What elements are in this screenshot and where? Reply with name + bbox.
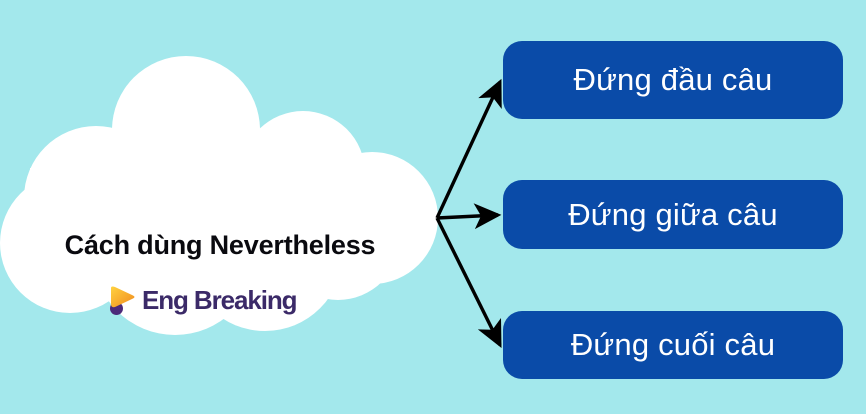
arrow-to-node-2 [437, 215, 498, 218]
diagram-canvas: Cách dùng Nevertheless Eng Breaking [0, 0, 866, 414]
node-label: Đứng cuối câu [571, 327, 775, 363]
node-dung-giua-cau[interactable]: Đứng giữa câu [503, 180, 843, 249]
arrow-to-node-3 [437, 218, 500, 345]
node-label: Đứng giữa câu [568, 197, 778, 233]
node-label: Đứng đầu câu [574, 62, 773, 98]
arrow-to-node-1 [437, 82, 500, 218]
node-dung-dau-cau[interactable]: Đứng đầu câu [503, 41, 843, 119]
node-dung-cuoi-cau[interactable]: Đứng cuối câu [503, 311, 843, 379]
